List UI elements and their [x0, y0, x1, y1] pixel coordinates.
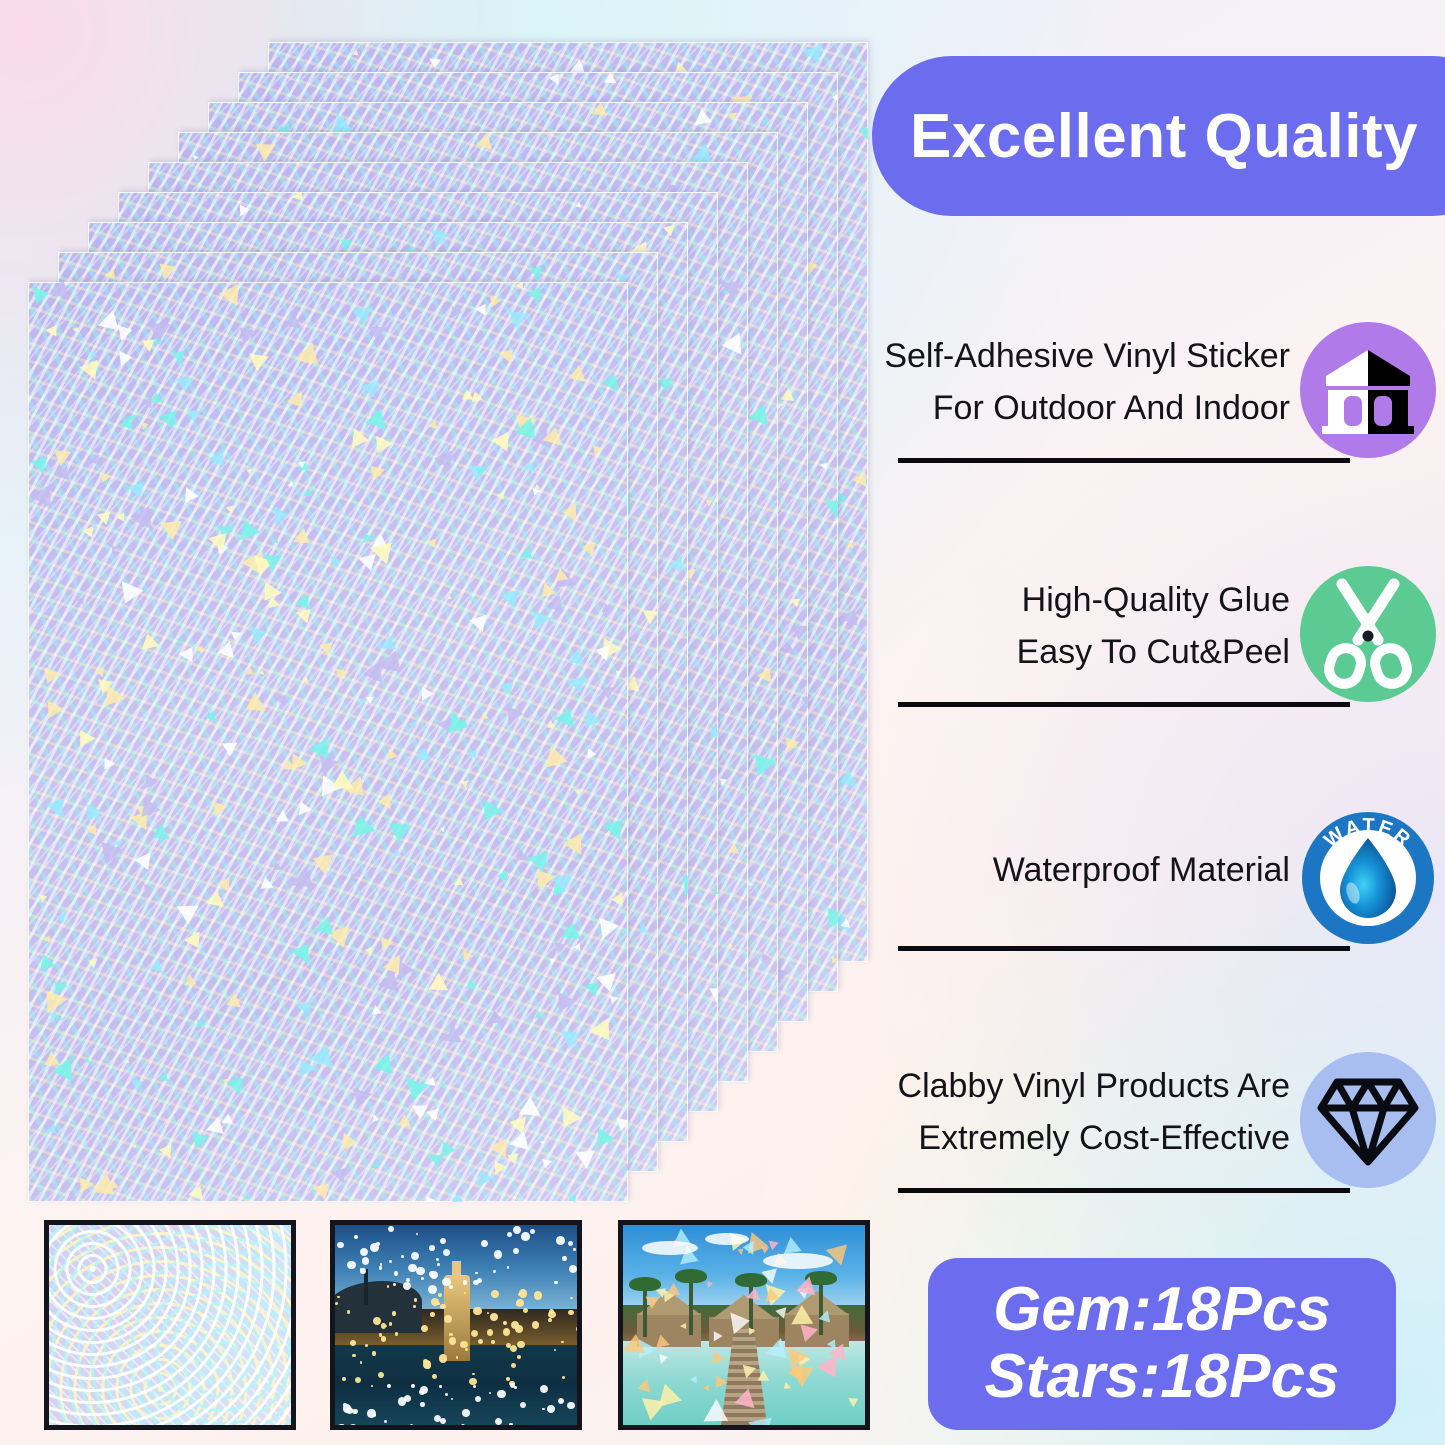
- holo-shard: [737, 1248, 744, 1255]
- bokeh-dot: [425, 1362, 431, 1368]
- bokeh-dot: [432, 1425, 441, 1430]
- bokeh-dot: [562, 1256, 567, 1261]
- bokeh-dot: [393, 1283, 396, 1286]
- feature-row-waterproof: Waterproof Material WATER: [880, 806, 1436, 972]
- bokeh-dot: [414, 1298, 418, 1302]
- bokeh-dot: [506, 1343, 511, 1348]
- bokeh-dot: [410, 1424, 413, 1427]
- feature-line: Extremely Cost-Effective: [918, 1113, 1290, 1165]
- bokeh-dot: [352, 1409, 357, 1414]
- bokeh-dot: [513, 1248, 519, 1254]
- holo-shard: [787, 1363, 803, 1382]
- bokeh-dot: [360, 1268, 362, 1270]
- scissors-icon: [1300, 566, 1436, 702]
- count-line-stars: Stars:18Pcs: [984, 1344, 1339, 1411]
- bokeh-dot: [464, 1292, 466, 1294]
- bokeh-dot: [516, 1299, 524, 1307]
- bokeh-dot: [343, 1404, 351, 1412]
- bokeh-dot: [494, 1250, 502, 1258]
- feature-line: For Outdoor And Indoor: [933, 383, 1290, 435]
- bokeh-dot: [473, 1307, 481, 1315]
- feature-row-self-adhesive: Self-Adhesive Vinyl Sticker For Outdoor …: [880, 318, 1436, 484]
- bokeh-dot: [573, 1248, 576, 1251]
- bokeh-dot: [534, 1291, 543, 1300]
- bokeh-dot: [475, 1272, 477, 1274]
- bokeh-dot: [521, 1232, 530, 1241]
- sticker-sheet: [28, 282, 628, 1202]
- diamond-gem-icon: [1300, 1052, 1436, 1188]
- feature-divider: [898, 946, 1350, 951]
- bokeh-dot: [350, 1340, 356, 1346]
- bokeh-dot: [490, 1313, 498, 1321]
- feature-row-high-quality-glue: High-Quality Glue Easy To Cut&Peel: [880, 562, 1436, 728]
- bokeh-dot: [362, 1257, 369, 1264]
- feature-text-block: Self-Adhesive Vinyl Sticker For Outdoor …: [890, 318, 1290, 448]
- feature-divider: [898, 702, 1350, 707]
- bokeh-dot: [463, 1280, 468, 1285]
- bokeh-dot: [420, 1402, 424, 1406]
- feature-line: Easy To Cut&Peel: [1017, 627, 1290, 679]
- bokeh-dot: [520, 1402, 526, 1408]
- bokeh-dot: [478, 1339, 483, 1344]
- bokeh-dot: [437, 1263, 440, 1266]
- feature-divider: [898, 458, 1350, 463]
- bokeh-dot: [514, 1386, 516, 1388]
- thumbnail-night-city: [330, 1220, 582, 1430]
- thumbnail-holographic-swatch: [44, 1220, 296, 1430]
- bokeh-dot: [456, 1356, 458, 1358]
- bokeh-dot: [497, 1390, 506, 1399]
- bokeh-dot: [477, 1278, 482, 1283]
- bokeh-dot: [347, 1310, 351, 1314]
- holo-shard: [680, 1323, 686, 1329]
- bokeh-dot: [406, 1278, 410, 1282]
- feature-row-cost-effective: Clabby Vinyl Products Are Extremely Cost…: [880, 1048, 1436, 1214]
- bokeh-dot: [355, 1377, 361, 1383]
- bokeh-dot: [449, 1285, 453, 1289]
- water-resistant-badge-icon: WATER RESISTANT: [1300, 810, 1436, 946]
- bokeh-dot: [517, 1341, 525, 1349]
- title-banner: Excellent Quality: [872, 56, 1445, 216]
- bokeh-dot: [519, 1289, 527, 1297]
- spire: [364, 1269, 368, 1305]
- feature-divider: [898, 1188, 1350, 1193]
- bokeh-dot: [371, 1385, 374, 1388]
- bokeh-dot: [442, 1278, 451, 1287]
- bokeh-dot: [495, 1418, 502, 1425]
- bokeh-dot: [444, 1315, 452, 1323]
- bokeh-dot: [349, 1424, 357, 1430]
- bokeh-dot: [568, 1241, 573, 1246]
- cloud: [763, 1253, 833, 1269]
- bokeh-dot: [335, 1302, 338, 1305]
- holo-shard: [623, 1333, 647, 1353]
- bokeh-dot: [436, 1258, 439, 1261]
- holo-shard: [635, 1379, 650, 1395]
- bokeh-dot: [503, 1328, 511, 1336]
- bokeh-dot: [487, 1329, 493, 1335]
- feature-line: Self-Adhesive Vinyl Sticker: [884, 331, 1290, 383]
- bokeh-dot: [392, 1311, 397, 1316]
- bokeh-dot: [432, 1374, 437, 1379]
- bokeh-dot: [509, 1423, 512, 1426]
- bokeh-dot: [513, 1226, 521, 1234]
- bokeh-dot: [413, 1305, 416, 1308]
- bokeh-dot: [471, 1330, 478, 1337]
- bokeh-dot: [503, 1321, 507, 1325]
- bokeh-dot: [360, 1361, 363, 1364]
- tropical-scene: [623, 1225, 865, 1425]
- bokeh-dot: [428, 1285, 437, 1294]
- bokeh-dot: [567, 1402, 574, 1409]
- holo-shards: [28, 282, 628, 1202]
- bokeh-dot: [481, 1240, 488, 1247]
- bokeh-dot: [461, 1424, 466, 1429]
- bokeh-dot: [449, 1333, 452, 1336]
- bokeh-dot: [360, 1248, 368, 1256]
- bokeh-dot: [403, 1282, 411, 1290]
- count-badge: Gem:18Pcs Stars:18Pcs: [928, 1258, 1396, 1430]
- bokeh-dot: [387, 1285, 389, 1287]
- bokeh-dot: [352, 1354, 355, 1357]
- palm-tree: [689, 1277, 693, 1335]
- feature-line: High-Quality Glue: [1022, 575, 1290, 627]
- feature-text-block: High-Quality Glue Easy To Cut&Peel: [890, 562, 1290, 692]
- bokeh-dot: [378, 1372, 384, 1378]
- sticker-sheet-stack: [0, 0, 880, 1210]
- bokeh-dot: [338, 1424, 345, 1430]
- feature-text-block: Waterproof Material: [890, 806, 1290, 936]
- holo-shard: [703, 1385, 709, 1391]
- feature-text-block: Clabby Vinyl Products Are Extremely Cost…: [890, 1048, 1290, 1178]
- bokeh-dot: [556, 1236, 565, 1245]
- bokeh-dot: [347, 1261, 356, 1270]
- feature-line: Clabby Vinyl Products Are: [898, 1061, 1290, 1113]
- product-infographic: Excellent Quality Self-Adhesive Vinyl St…: [0, 0, 1445, 1445]
- palm-tree: [643, 1285, 647, 1337]
- cloud: [705, 1233, 749, 1245]
- bokeh-dot: [416, 1267, 424, 1275]
- bokeh-dot: [381, 1336, 386, 1341]
- bokeh-dot: [372, 1351, 376, 1355]
- bokeh-dot: [411, 1252, 419, 1260]
- bokeh-dot: [430, 1312, 435, 1317]
- bokeh-dot: [376, 1242, 380, 1246]
- holo-shard: [746, 1287, 762, 1300]
- bokeh-dot: [439, 1354, 447, 1362]
- bokeh-dot: [460, 1341, 467, 1348]
- thumbnail-tropical-pier: [618, 1220, 870, 1430]
- bokeh-dot: [554, 1281, 558, 1285]
- bokeh-dot: [395, 1332, 398, 1335]
- holo-shard: [644, 1296, 659, 1309]
- bokeh-dot: [511, 1363, 516, 1368]
- bokeh-dot: [462, 1409, 469, 1416]
- page-title: Excellent Quality: [910, 101, 1418, 172]
- bokeh-dot: [372, 1413, 376, 1417]
- cloud: [642, 1241, 698, 1255]
- holo-shard: [659, 1353, 669, 1364]
- holo-texture: [49, 1225, 291, 1425]
- bokeh-dot: [440, 1418, 446, 1424]
- bokeh-dot: [576, 1326, 582, 1332]
- bokeh-dot: [554, 1349, 556, 1351]
- house-indoor-outdoor-icon: [1300, 322, 1436, 458]
- holo-shard: [730, 1309, 751, 1334]
- night-city-scene: [335, 1225, 577, 1425]
- bokeh-dot: [421, 1325, 428, 1332]
- feature-line: Waterproof Material: [993, 845, 1290, 897]
- bokeh-dot: [561, 1341, 563, 1343]
- bokeh-dot: [419, 1389, 425, 1395]
- count-line-gem: Gem:18Pcs: [993, 1277, 1331, 1344]
- bokeh-dot: [429, 1245, 435, 1251]
